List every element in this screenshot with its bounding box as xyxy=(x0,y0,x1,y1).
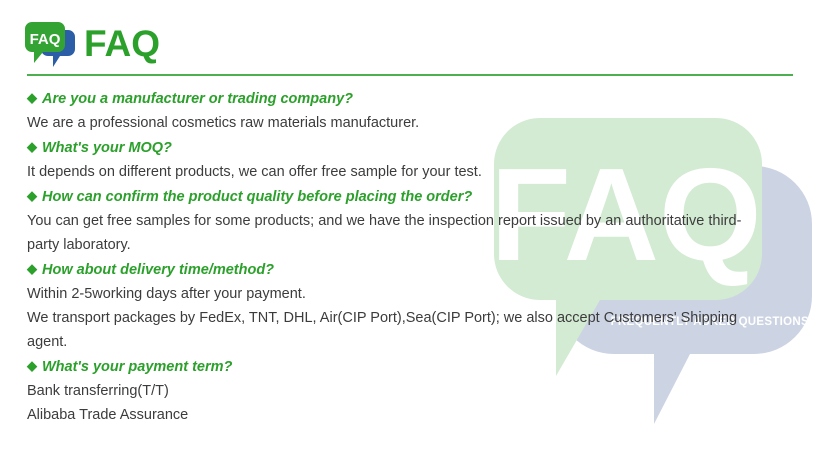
logo-faq-text: FAQ xyxy=(30,31,61,48)
faq-item: ◆What's your payment term? Bank transfer… xyxy=(27,354,797,427)
faq-question-text: How about delivery time/method? xyxy=(42,262,274,278)
faq-answer: It depends on different products, we can… xyxy=(27,160,767,184)
faq-question: ◆What's your MOQ? xyxy=(27,135,797,160)
faq-page: FAQ FREQUENTLY ASKED QUESTIONS FAQ FAQ ◆… xyxy=(0,0,820,460)
page-header: FAQ FAQ xyxy=(0,0,820,76)
diamond-bullet-icon: ◆ xyxy=(27,184,37,208)
faq-list: ◆Are you a manufacturer or trading compa… xyxy=(27,86,797,427)
faq-item: ◆How can confirm the product quality bef… xyxy=(27,184,797,257)
faq-question: ◆How can confirm the product quality bef… xyxy=(27,184,797,209)
faq-item: ◆What's your MOQ? It depends on differen… xyxy=(27,135,797,184)
faq-question-text: How can confirm the product quality befo… xyxy=(42,189,472,205)
faq-answer: You can get free samples for some produc… xyxy=(27,209,767,257)
faq-item: ◆Are you a manufacturer or trading compa… xyxy=(27,86,797,135)
faq-question: ◆Are you a manufacturer or trading compa… xyxy=(27,86,797,111)
faq-answer: Within 2-5working days after your paymen… xyxy=(27,282,767,306)
diamond-bullet-icon: ◆ xyxy=(27,86,37,110)
faq-question: ◆What's your payment term? xyxy=(27,354,797,379)
faq-answer: Alibaba Trade Assurance xyxy=(27,403,767,427)
title-divider xyxy=(27,74,793,76)
faq-logo-icon: FAQ xyxy=(24,19,76,69)
diamond-bullet-icon: ◆ xyxy=(27,354,37,378)
diamond-bullet-icon: ◆ xyxy=(27,257,37,281)
faq-answer: Bank transferring(T/T) xyxy=(27,379,767,403)
faq-answer: We transport packages by FedEx, TNT, DHL… xyxy=(27,306,767,354)
diamond-bullet-icon: ◆ xyxy=(27,135,37,159)
faq-question: ◆How about delivery time/method? xyxy=(27,257,797,282)
faq-question-text: Are you a manufacturer or trading compan… xyxy=(42,91,353,107)
faq-question-text: What's your payment term? xyxy=(42,359,232,375)
faq-item: ◆How about delivery time/method? Within … xyxy=(27,257,797,354)
faq-question-text: What's your MOQ? xyxy=(42,140,172,156)
faq-answer: We are a professional cosmetics raw mate… xyxy=(27,111,767,135)
page-title: FAQ xyxy=(84,22,160,66)
